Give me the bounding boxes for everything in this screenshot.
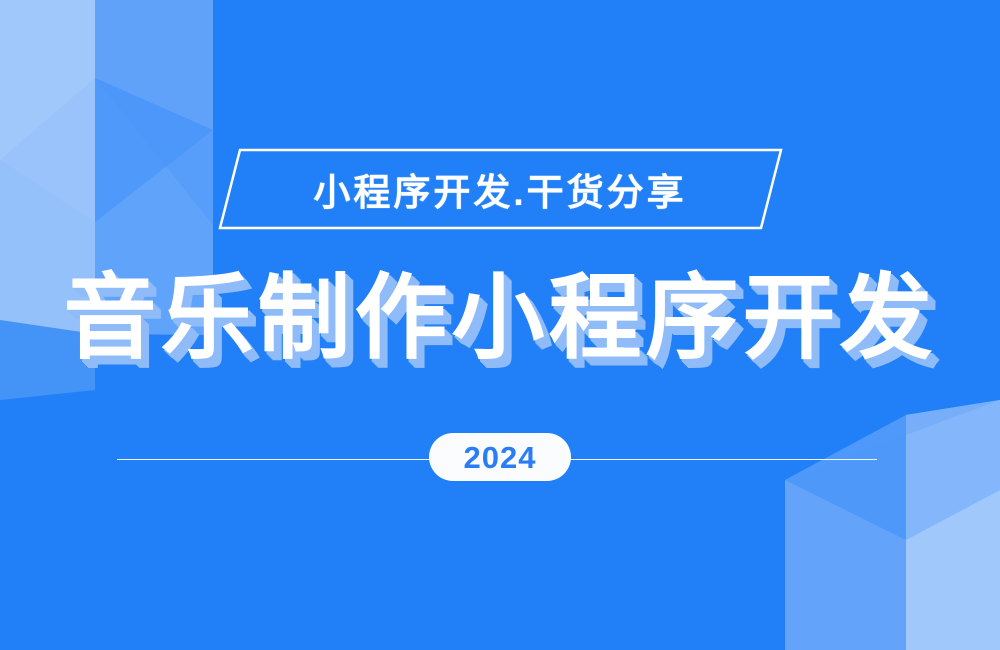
subtitle-banner: 小程序开发.干货分享 [0,148,1000,230]
divider-line-right [563,459,877,460]
subtitle-text: 小程序开发.干货分享 [0,148,1000,230]
divider-line-left [117,459,437,460]
year-badge: 2024 [429,433,571,481]
year-badge-label: 2024 [464,442,537,473]
banner-content: 小程序开发.干货分享 音乐制作小程序开发 2024 [0,0,1000,650]
main-title-wrap: 音乐制作小程序开发 [0,258,1000,378]
page-title: 音乐制作小程序开发 [64,272,937,365]
promo-banner: 小程序开发.干货分享 音乐制作小程序开发 2024 [0,0,1000,650]
